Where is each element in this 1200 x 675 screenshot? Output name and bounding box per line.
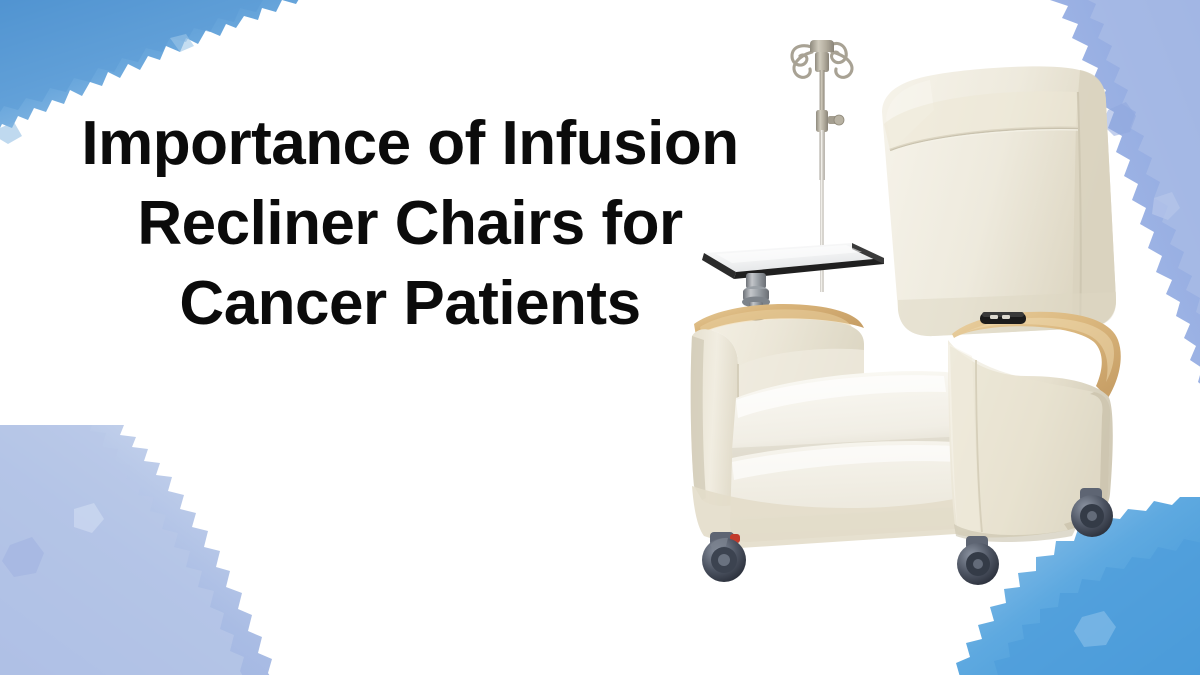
- caster-front-left: [702, 532, 746, 582]
- caster-front-right: [957, 536, 999, 585]
- product-image-infusion-recliner-chair: [676, 0, 1146, 620]
- tray-table: [702, 243, 884, 279]
- backrest: [882, 66, 1116, 336]
- banner-canvas: Importance of Infusion Recliner Chairs f…: [0, 0, 1200, 675]
- watercolor-splash-bottom-left: [0, 425, 276, 675]
- control-pad[interactable]: [980, 312, 1026, 324]
